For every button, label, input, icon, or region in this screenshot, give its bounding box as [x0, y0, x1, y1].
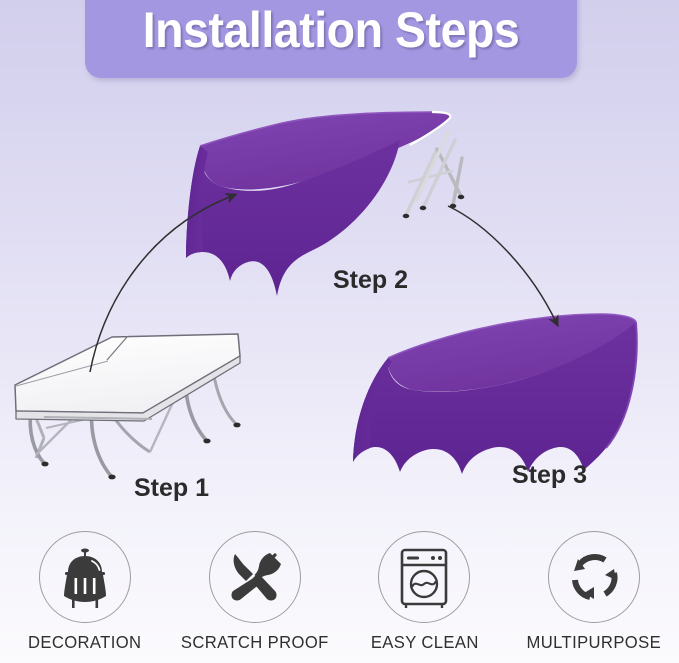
step-1-table — [15, 334, 241, 479]
feature-decoration: DECORATION — [0, 531, 170, 663]
step-1-leg-feet — [41, 423, 240, 480]
decoration-icon-circle — [39, 531, 131, 623]
installation-steps-infographic: Installation Steps — [0, 0, 679, 663]
step-2-legs — [406, 133, 462, 215]
scratch-proof-icon-circle — [209, 531, 301, 623]
step-2-table — [186, 112, 464, 296]
knife-fork-crossed-icon — [225, 547, 285, 607]
scratch-proof-label: SCRATCH PROOF — [181, 632, 329, 653]
multipurpose-icon-circle — [548, 531, 640, 623]
draped-table-cloche-icon — [54, 546, 116, 608]
arrow-step2-to-step3 — [448, 206, 556, 322]
step-1-label: Step 1 — [134, 474, 209, 503]
step-1-top — [15, 334, 240, 413]
feature-multipurpose: MULTIPURPOSE — [509, 531, 679, 663]
step-2-label: Step 2 — [333, 266, 408, 295]
multipurpose-label: MULTIPURPOSE — [527, 632, 662, 653]
feature-easy-clean: EASY CLEAN — [340, 531, 510, 663]
step-3-table — [353, 314, 637, 474]
recycle-arrows-icon — [564, 547, 624, 607]
easy-clean-icon-circle — [378, 531, 470, 623]
feature-row: DECORATION SCRATCH PROOF — [0, 531, 679, 663]
step-3-label: Step 3 — [512, 461, 587, 490]
washing-machine-icon — [395, 546, 453, 608]
feature-scratch-proof: SCRATCH PROOF — [170, 531, 340, 663]
decoration-label: DECORATION — [28, 632, 141, 653]
easy-clean-label: EASY CLEAN — [370, 632, 478, 653]
